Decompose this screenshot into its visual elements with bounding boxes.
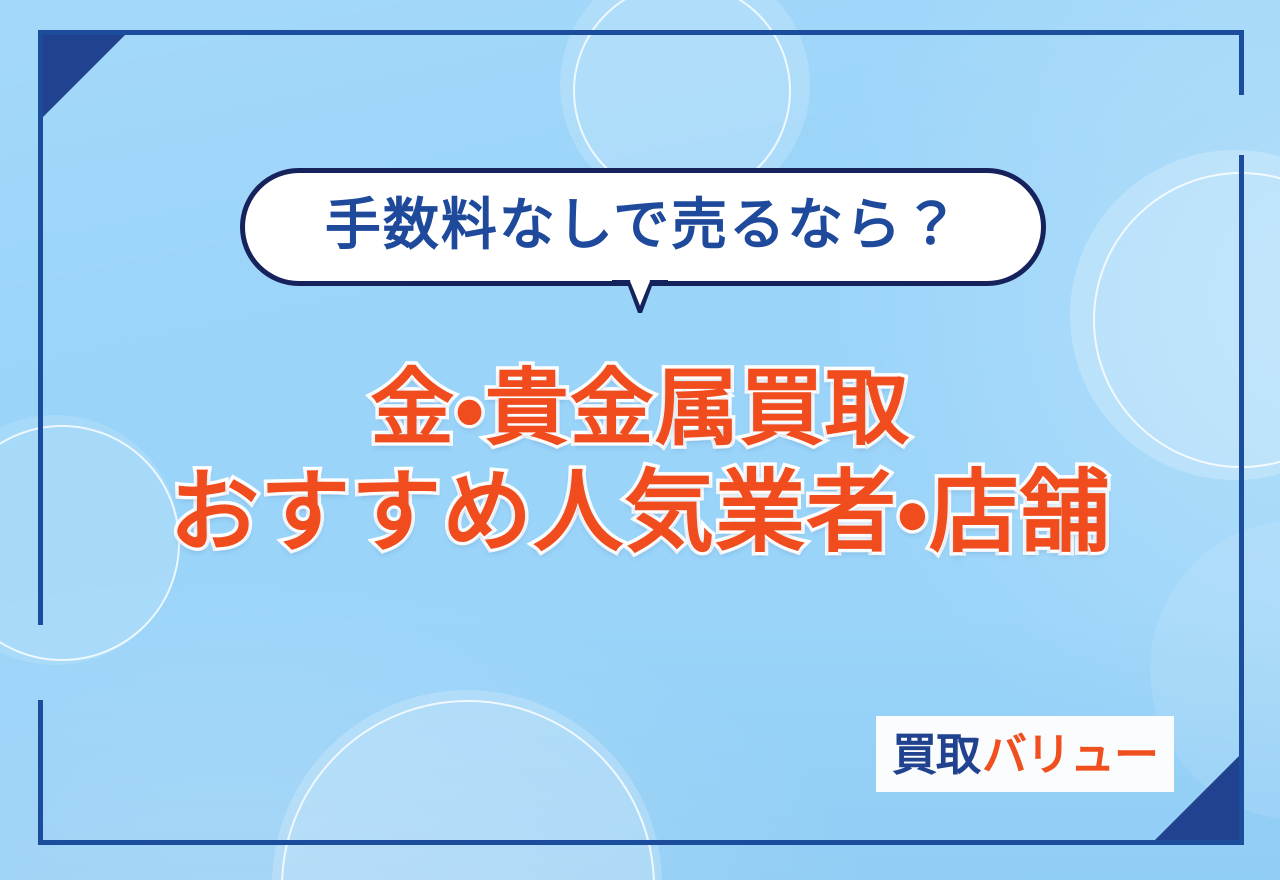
frame-border-left-lower [38,700,43,845]
decorative-ring-bottom [281,700,655,880]
brand-logo-accent-text: バリュー [982,732,1158,777]
headline-line-1: 金・貴金属買取 [0,358,1280,459]
brand-logo-primary-text: 買取 [892,732,980,777]
decorative-disc-right [1070,150,1280,480]
speech-bubble-tail-icon [612,280,668,314]
corner-triangle-top-left [38,30,130,122]
promo-banner: 手数料なしで売るなら？ 金・貴金属買取 おすすめ人気業者・店舗 買取 バリュー [0,0,1280,880]
headline-line-2: おすすめ人気業者・店舗 [0,459,1280,567]
speech-bubble: 手数料なしで売るなら？ [240,168,1046,286]
frame-border-left-upper [38,30,43,625]
speech-bubble-text: 手数料なしで売るなら？ [325,198,961,254]
brand-logo[interactable]: 買取 バリュー [876,716,1174,792]
decorative-disc-bottom [272,690,662,880]
frame-border-bottom [38,840,1244,845]
frame-border-right-upper [1239,30,1244,95]
speech-bubble-body: 手数料なしで売るなら？ [240,168,1046,286]
decorative-disc-left [0,415,180,665]
frame-border-top [38,30,1244,35]
decorative-ring-right [1093,172,1280,468]
decorative-ring-left [0,425,180,661]
headline: 金・貴金属買取 おすすめ人気業者・店舗 [0,358,1280,567]
frame-border-right-lower [1239,155,1244,845]
